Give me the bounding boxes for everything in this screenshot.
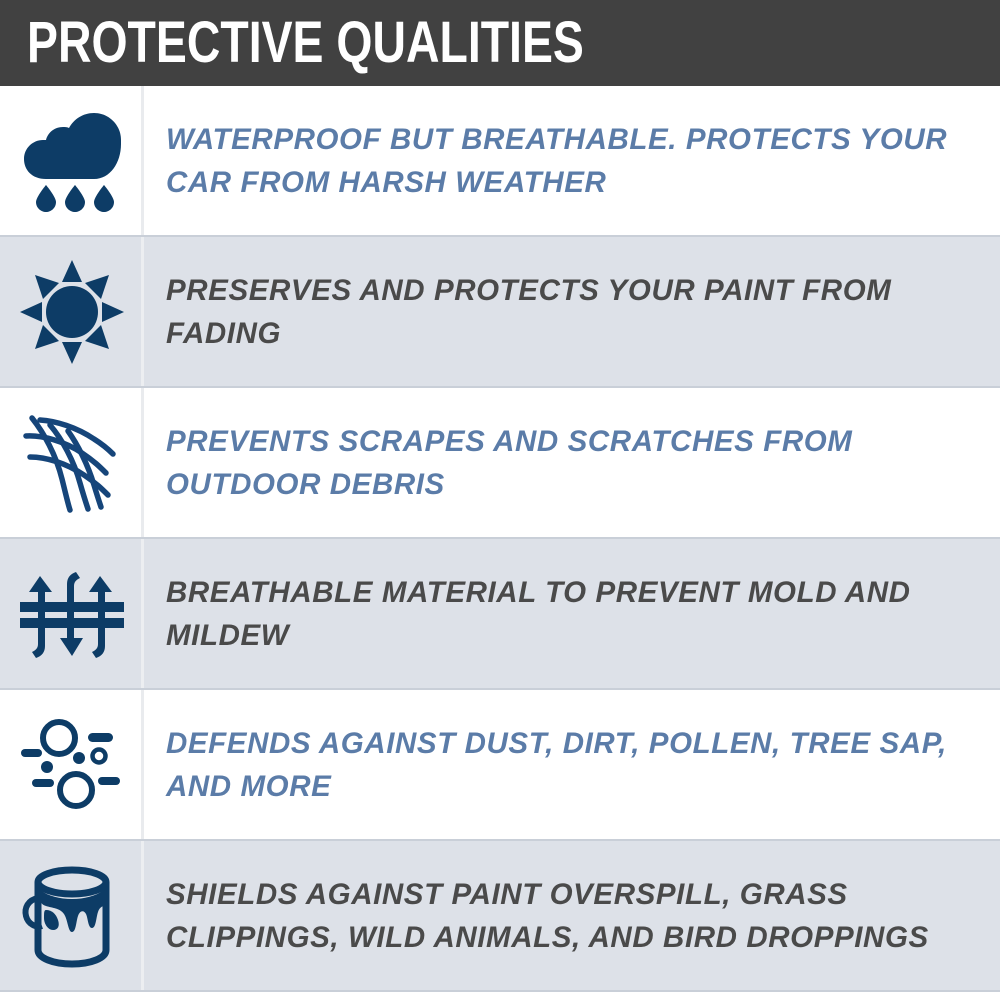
header-bar: PROTECTIVE QUALITIES bbox=[0, 0, 1000, 86]
icon-cell bbox=[0, 841, 144, 990]
dust-particles-icon bbox=[18, 711, 126, 819]
feature-text: BREATHABLE MATERIAL TO PREVENT MOLD AND … bbox=[166, 571, 976, 657]
protective-qualities-infographic: PROTECTIVE QUALITIES WATERP bbox=[0, 0, 1000, 1000]
feature-text: PREVENTS SCRAPES AND SCRATCHES FROM OUTD… bbox=[166, 420, 976, 506]
text-cell: SHIELDS AGAINST PAINT OVERSPILL, GRASS C… bbox=[144, 841, 1000, 990]
scratches-icon bbox=[18, 409, 126, 517]
text-cell: DEFENDS AGAINST DUST, DIRT, POLLEN, TREE… bbox=[144, 690, 1000, 839]
rain-cloud-icon bbox=[18, 107, 126, 215]
icon-cell bbox=[0, 388, 144, 537]
feature-row: SHIELDS AGAINST PAINT OVERSPILL, GRASS C… bbox=[0, 841, 1000, 992]
text-cell: PRESERVES AND PROTECTS YOUR PAINT FROM F… bbox=[144, 237, 1000, 386]
text-cell: WATERPROOF BUT BREATHABLE. PROTECTS YOUR… bbox=[144, 86, 1000, 235]
feature-row: PREVENTS SCRAPES AND SCRATCHES FROM OUTD… bbox=[0, 388, 1000, 539]
feature-row: WATERPROOF BUT BREATHABLE. PROTECTS YOUR… bbox=[0, 86, 1000, 237]
text-cell: PREVENTS SCRAPES AND SCRATCHES FROM OUTD… bbox=[144, 388, 1000, 537]
icon-cell bbox=[0, 86, 144, 235]
feature-text: PRESERVES AND PROTECTS YOUR PAINT FROM F… bbox=[166, 269, 976, 355]
text-cell: BREATHABLE MATERIAL TO PREVENT MOLD AND … bbox=[144, 539, 1000, 688]
icon-cell bbox=[0, 690, 144, 839]
page-title: PROTECTIVE QUALITIES bbox=[27, 14, 584, 72]
feature-row: PRESERVES AND PROTECTS YOUR PAINT FROM F… bbox=[0, 237, 1000, 388]
paint-can-icon bbox=[18, 862, 126, 970]
icon-cell bbox=[0, 539, 144, 688]
bottom-strip bbox=[0, 992, 1000, 1000]
feature-row: BREATHABLE MATERIAL TO PREVENT MOLD AND … bbox=[0, 539, 1000, 690]
icon-cell bbox=[0, 237, 144, 386]
feature-text: DEFENDS AGAINST DUST, DIRT, POLLEN, TREE… bbox=[166, 722, 976, 808]
feature-row: DEFENDS AGAINST DUST, DIRT, POLLEN, TREE… bbox=[0, 690, 1000, 841]
breathable-arrows-icon bbox=[18, 560, 126, 668]
feature-list: WATERPROOF BUT BREATHABLE. PROTECTS YOUR… bbox=[0, 86, 1000, 992]
feature-text: SHIELDS AGAINST PAINT OVERSPILL, GRASS C… bbox=[166, 873, 976, 959]
sun-icon bbox=[18, 258, 126, 366]
feature-text: WATERPROOF BUT BREATHABLE. PROTECTS YOUR… bbox=[166, 118, 976, 204]
